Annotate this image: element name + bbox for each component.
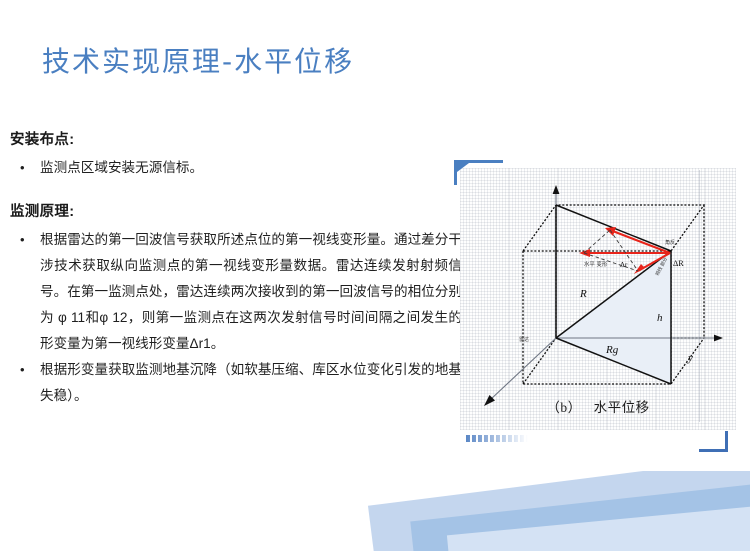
horizontal-displacement-diagram: R Rg h y ΔR 雷达 角反 水平 变形 Δr 视线 部分 bbox=[460, 168, 736, 430]
axis-z-arrow bbox=[553, 185, 560, 194]
bottom-decoration-band bbox=[0, 471, 750, 551]
bullet-list-install: 监测点区域安装无源信标。 bbox=[10, 155, 462, 181]
label-corner-reflector: 角反 bbox=[665, 239, 675, 246]
section-heading-install: 安装布点: bbox=[10, 128, 462, 149]
figure-panel: R Rg h y ΔR 雷达 角反 水平 变形 Δr 视线 部分 （b）水平位移 bbox=[452, 160, 742, 450]
page-title: 技术实现原理-水平位移 bbox=[42, 40, 354, 80]
label-horizontal-deform-symbol: Δr bbox=[620, 260, 628, 269]
slide-canvas: 技术实现原理-水平位移 安装布点: 监测点区域安装无源信标。 监测原理: 根据雷… bbox=[0, 0, 750, 551]
figure-caption: （b）水平位移 bbox=[460, 396, 736, 416]
dotted-decoration bbox=[466, 435, 528, 442]
slant-plane-shade bbox=[556, 251, 671, 384]
figure-caption-label: （b） bbox=[546, 400, 593, 415]
label-radar: 雷达 bbox=[519, 336, 529, 343]
band-layer-1 bbox=[368, 471, 750, 551]
axis-x-arrow bbox=[714, 335, 723, 342]
bullet-list-principle: 根据雷达的第一回波信号获取所述点位的第一视线变形量。通过差分干涉技术获取纵向监测… bbox=[10, 227, 462, 409]
list-item: 监测点区域安装无源信标。 bbox=[10, 155, 462, 181]
section-heading-principle: 监测原理: bbox=[10, 200, 462, 221]
content-column: 安装布点: 监测点区域安装无源信标。 监测原理: 根据雷达的第一回波信号获取所述… bbox=[10, 128, 462, 409]
label-horizontal-deform: 水平 变形 bbox=[584, 260, 608, 268]
axes bbox=[490, 190, 718, 400]
figure-caption-text: 水平位移 bbox=[594, 400, 650, 415]
label-ground-range: Rg bbox=[605, 344, 619, 356]
list-item: 根据形变量获取监测地基沉降（如软基压缩、库区水位变化引发的地基失稳）。 bbox=[10, 357, 462, 409]
band-layer-2 bbox=[410, 471, 750, 551]
corner-bracket-bottom-right bbox=[699, 431, 728, 452]
corner-bracket-top-left bbox=[454, 160, 503, 185]
label-axis-y: y bbox=[687, 352, 693, 364]
label-delta-R: ΔR bbox=[673, 259, 684, 268]
band-layer-3 bbox=[447, 490, 750, 551]
list-item: 根据雷达的第一回波信号获取所述点位的第一视线变形量。通过差分干涉技术获取纵向监测… bbox=[10, 227, 462, 357]
label-slant-range: R bbox=[579, 288, 587, 300]
figure-surface: R Rg h y ΔR 雷达 角反 水平 变形 Δr 视线 部分 （b）水平位移 bbox=[460, 168, 736, 430]
label-height: h bbox=[657, 312, 663, 324]
